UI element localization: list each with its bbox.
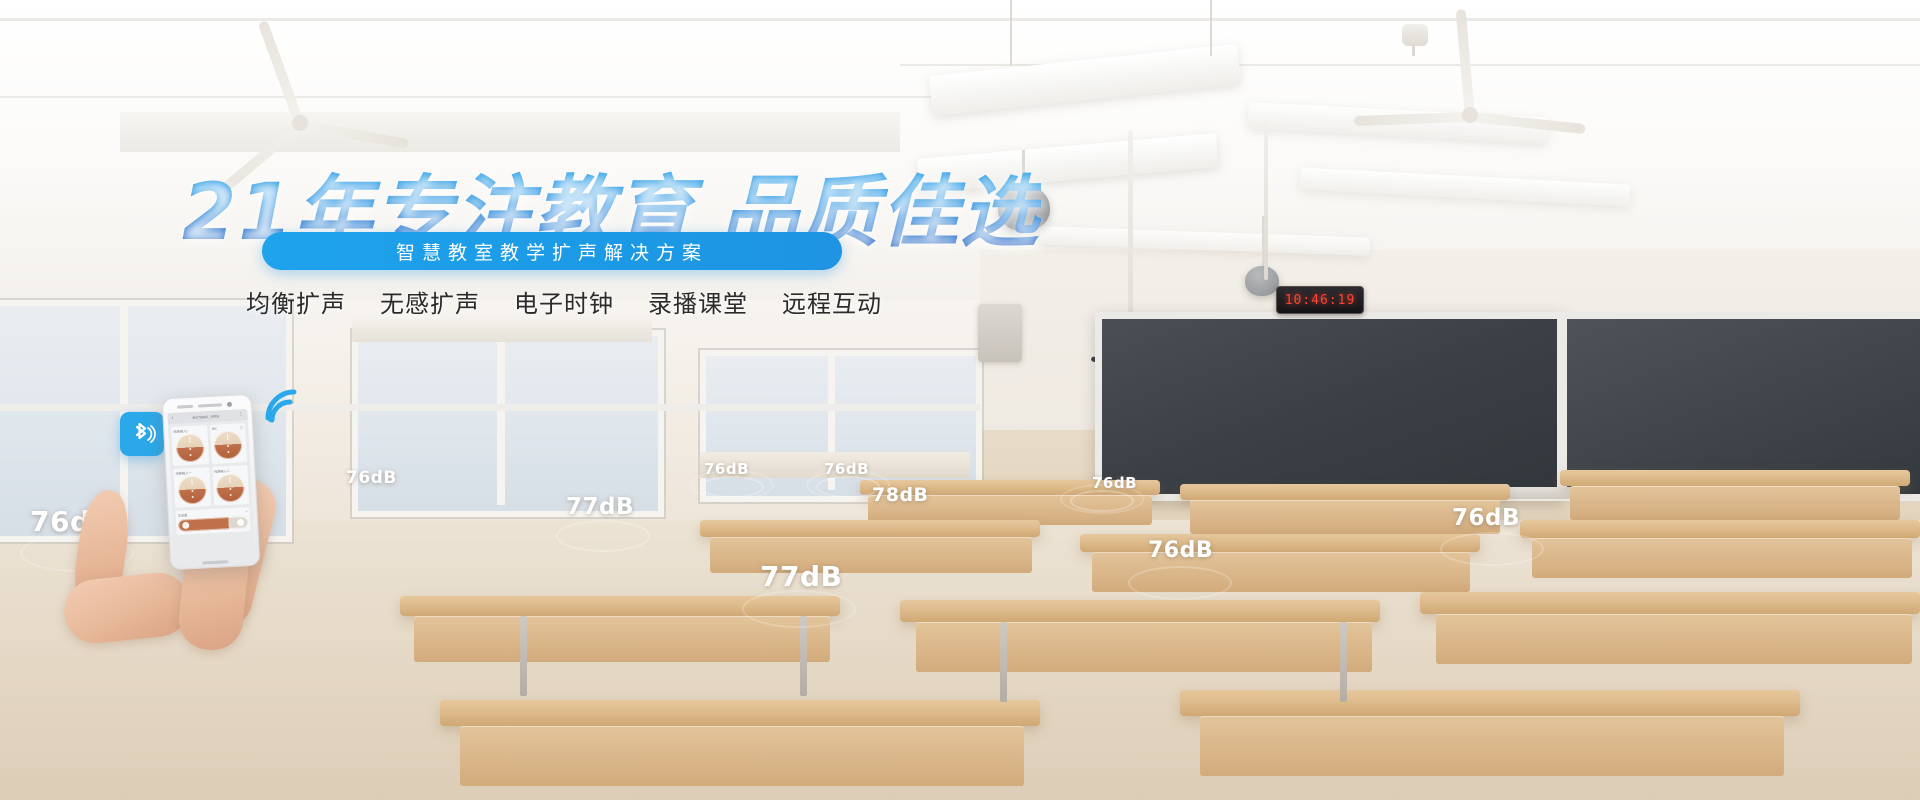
desk bbox=[1180, 484, 1510, 500]
earpiece-speaker bbox=[177, 404, 193, 408]
wifi-signal-icon bbox=[262, 382, 316, 424]
desk bbox=[1560, 470, 1910, 486]
desk bbox=[700, 520, 1040, 537]
fan-mount bbox=[1402, 24, 1428, 46]
window-rail bbox=[0, 404, 980, 411]
feature-item-3: 录播课堂 bbox=[648, 284, 748, 319]
control-card-grid: 线路输入1 MIC▢ 线路输入一 线路输入二 主音量+ bbox=[168, 420, 254, 538]
card-label: 主音量 bbox=[178, 512, 188, 517]
db-label: 76dB bbox=[704, 460, 749, 478]
control-card[interactable]: 线路输入1 bbox=[171, 425, 208, 466]
desk-front bbox=[916, 622, 1372, 672]
desk bbox=[1180, 690, 1800, 716]
ceiling-soffit bbox=[120, 112, 900, 152]
window bbox=[352, 330, 664, 517]
earpiece-grille bbox=[198, 403, 222, 407]
volume-knob[interactable] bbox=[216, 473, 245, 502]
db-label: 76dB bbox=[824, 460, 869, 478]
front-camera-icon bbox=[227, 401, 232, 406]
feature-list: 均衡扩声 无感扩声 电子时钟 录播课堂 远程互动 bbox=[246, 284, 882, 319]
bluetooth-icon bbox=[120, 412, 164, 456]
window-blind bbox=[352, 318, 652, 342]
control-card[interactable]: 线路输入二 bbox=[212, 465, 249, 506]
control-card[interactable]: 线路输入一 bbox=[173, 467, 210, 508]
plus-icon[interactable]: + bbox=[246, 509, 248, 514]
ceiling-seam bbox=[0, 18, 1920, 21]
master-volume-card[interactable]: 主音量+ bbox=[175, 507, 250, 535]
desk-front bbox=[1532, 538, 1912, 578]
desk-leg bbox=[800, 616, 807, 696]
window-mullion bbox=[497, 330, 505, 505]
feature-item-0: 均衡扩声 bbox=[246, 284, 346, 319]
desk-front bbox=[460, 726, 1024, 786]
home-indicator bbox=[202, 560, 228, 564]
card-label: MIC bbox=[212, 427, 218, 431]
db-label: 77dB bbox=[760, 560, 842, 593]
clock-time: 10:46:19 bbox=[1285, 293, 1356, 308]
app-title: MX79002_IPEN bbox=[192, 414, 219, 419]
desk bbox=[440, 700, 1040, 726]
desk-leg bbox=[520, 616, 527, 696]
sound-ripple bbox=[1440, 532, 1544, 566]
smartphone[interactable]: ‹ MX79002_IPEN ⋮ 线路输入1 MIC▢ 线路输入一 bbox=[162, 394, 261, 570]
feature-item-2: 电子时钟 bbox=[514, 284, 614, 319]
mute-icon[interactable]: ▢ bbox=[240, 425, 243, 429]
phone-top-bar bbox=[177, 401, 237, 410]
card-label: 线路输入二 bbox=[214, 468, 230, 474]
volume-knob[interactable] bbox=[177, 475, 206, 504]
sound-ripple bbox=[742, 590, 856, 628]
master-volume-slider[interactable] bbox=[178, 516, 249, 532]
sound-ripple bbox=[1128, 566, 1232, 600]
light-suspension-rod bbox=[1010, 0, 1012, 66]
digital-clock: 10:46:19 bbox=[1276, 286, 1364, 314]
classroom-hero-banner: 10:46:19 21年专注教育品质佳选 智慧教室教学扩声解决方案 均衡扩声 bbox=[0, 0, 1920, 800]
more-vertical-icon[interactable]: ⋮ bbox=[238, 412, 243, 417]
volume-knob[interactable] bbox=[175, 433, 204, 462]
control-card[interactable]: MIC▢ bbox=[210, 423, 247, 464]
subtitle-pill: 智慧教室教学扩声解决方案 bbox=[262, 232, 842, 270]
db-label: 76dB bbox=[1092, 474, 1137, 492]
desk-front bbox=[710, 537, 1032, 573]
desk bbox=[900, 600, 1380, 622]
feature-item-4: 远程互动 bbox=[782, 284, 882, 319]
phone-screen[interactable]: ‹ MX79002_IPEN ⋮ 线路输入1 MIC▢ 线路输入一 bbox=[167, 409, 254, 555]
desk-front bbox=[1436, 614, 1912, 664]
db-label: 77dB bbox=[566, 494, 634, 520]
sound-ripple bbox=[556, 520, 650, 552]
wall-control-panel bbox=[978, 304, 1022, 362]
card-label: 线路输入1 bbox=[173, 428, 188, 434]
volume-knob[interactable] bbox=[214, 430, 243, 459]
desk-front bbox=[1200, 716, 1784, 776]
desk-front bbox=[1570, 486, 1900, 520]
desk-leg bbox=[1340, 622, 1347, 702]
ceiling-speaker bbox=[1245, 266, 1279, 296]
db-label: 76dB bbox=[1148, 538, 1213, 563]
mic-stand bbox=[1264, 120, 1268, 280]
desk bbox=[1520, 520, 1920, 538]
blackboard-left bbox=[1095, 312, 1564, 501]
light-suspension-rod bbox=[1210, 0, 1212, 56]
subtitle-text: 智慧教室教学扩声解决方案 bbox=[396, 238, 708, 265]
db-label: 76dB bbox=[1452, 505, 1520, 531]
desk bbox=[1420, 592, 1920, 614]
db-label: 78dB bbox=[872, 484, 929, 506]
feature-item-1: 无感扩声 bbox=[380, 284, 480, 319]
chevron-left-icon[interactable]: ‹ bbox=[171, 416, 173, 421]
desk bbox=[1080, 534, 1480, 552]
desk-leg bbox=[1000, 622, 1007, 702]
card-label: 线路输入一 bbox=[175, 470, 191, 476]
